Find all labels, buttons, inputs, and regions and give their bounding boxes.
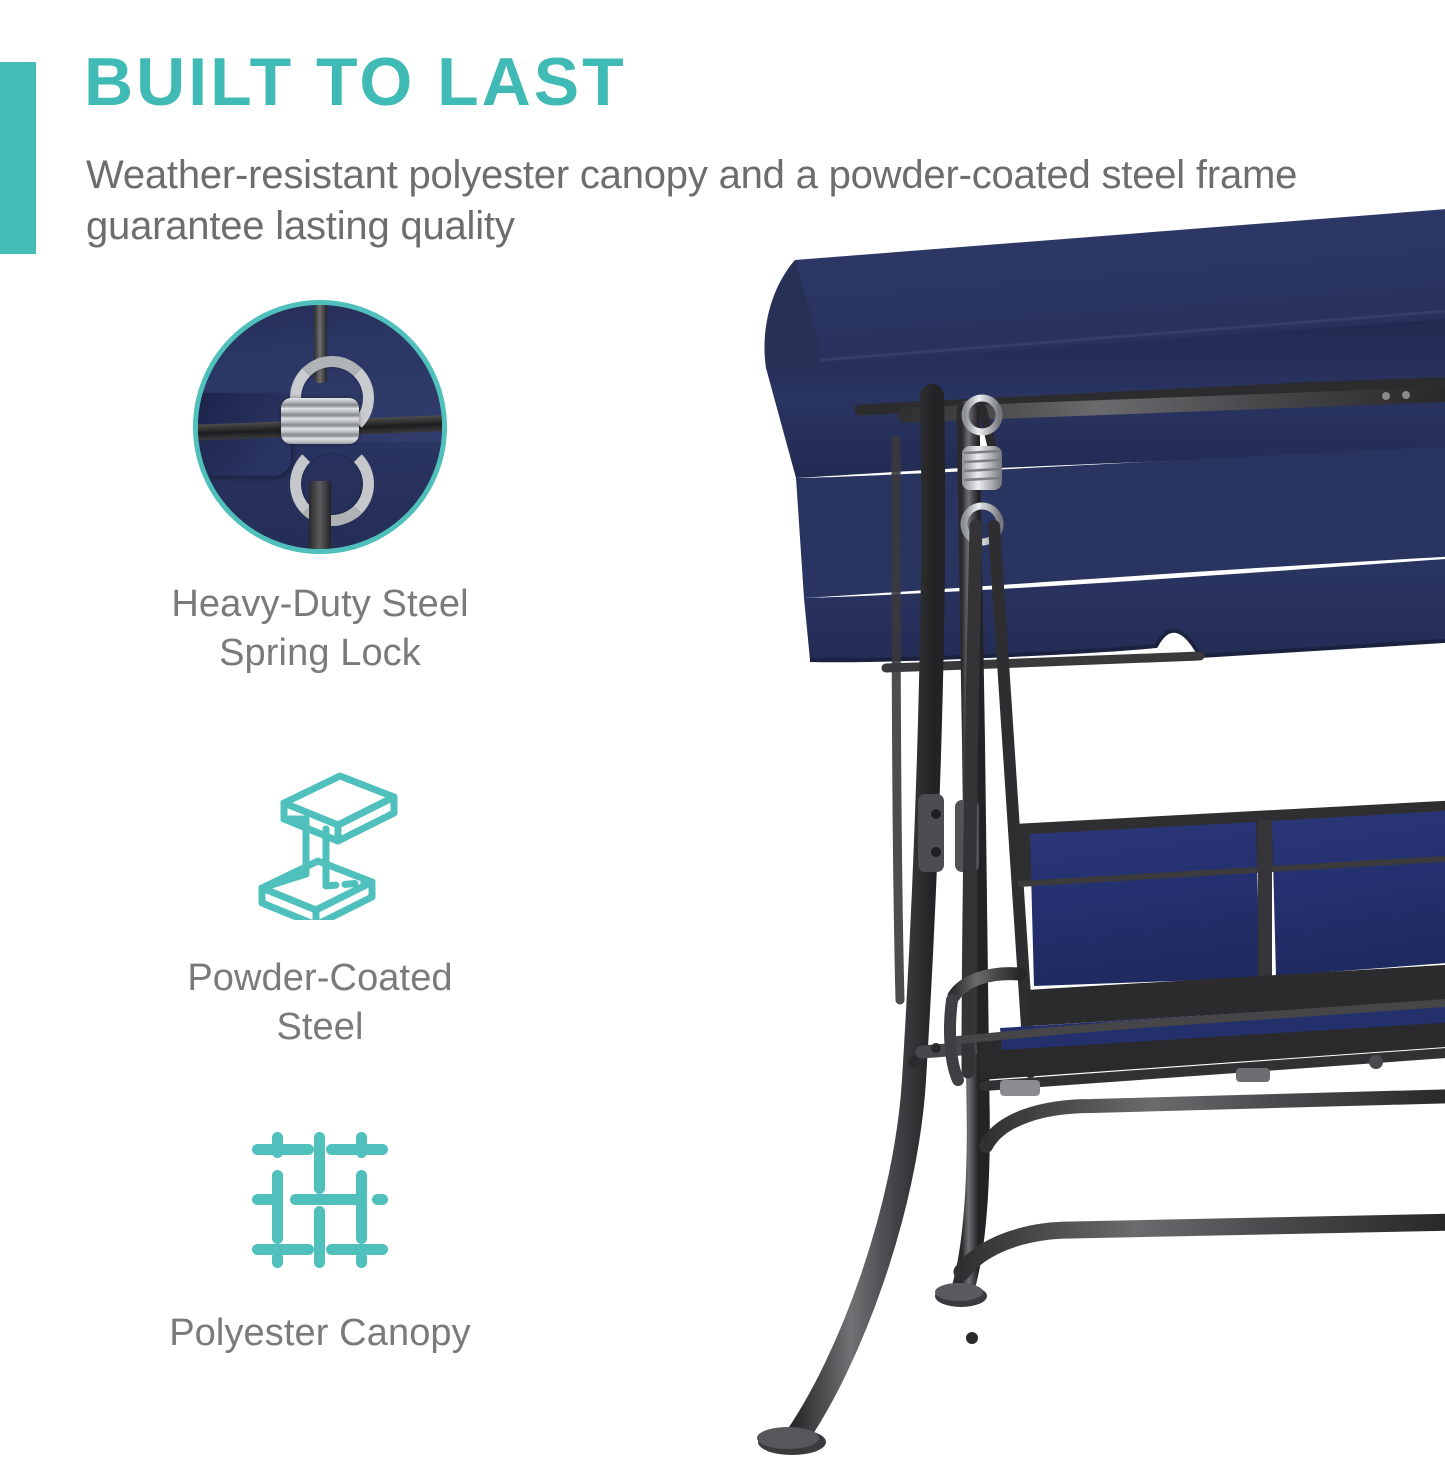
spring-lock-photo [193,300,447,554]
feature-label-polyester-canopy: Polyester Canopy [60,1309,580,1358]
frame-base-rail [962,1222,1445,1272]
feature-label-powder-coated-steel: Powder-Coated Steel [60,954,580,1051]
woven-fabric-icon [220,1115,420,1285]
brace-bolt [908,1056,920,1068]
frame-foot-cap-top [935,1283,983,1301]
page-title: BUILT TO LAST [84,48,627,116]
leg-joint-sleeve [918,794,944,872]
seat-back-panel-right [1272,810,1445,976]
feature-item-powder-coated-steel: Powder-Coated Steel [60,760,580,1051]
seat-back-divider [1258,820,1272,980]
feature-item-polyester-canopy: Polyester Canopy [60,1115,580,1358]
i-beam-icon [220,760,420,930]
feature-label-spring-lock: Heavy-Duty Steel Spring Lock [60,580,580,677]
leg-bolt [966,1332,978,1344]
spring-coil-icon [281,398,359,444]
hanging-strap [309,481,331,554]
seat-bracket [1236,1068,1270,1082]
leg-bolt [931,847,941,857]
swing-strap-far [896,440,900,1000]
seat-glide-bar [986,1096,1445,1146]
seat-bolt [1369,1055,1383,1069]
hook-lower-icon [290,442,374,526]
brace-bolt [931,1043,941,1053]
leg-bolt [931,809,941,819]
seat-back-panel-left [1030,822,1260,986]
product-image-canopy-porch-swing [700,200,1445,1460]
frame-foot-cap-top [757,1427,819,1449]
seat-bracket [1000,1080,1040,1096]
header-accent-bar [0,62,36,254]
spring-coil [962,446,1002,490]
rail-rivet [1402,391,1410,399]
feature-item-spring-lock: Heavy-Duty Steel Spring Lock [60,300,580,677]
rail-rivet [1382,392,1390,400]
